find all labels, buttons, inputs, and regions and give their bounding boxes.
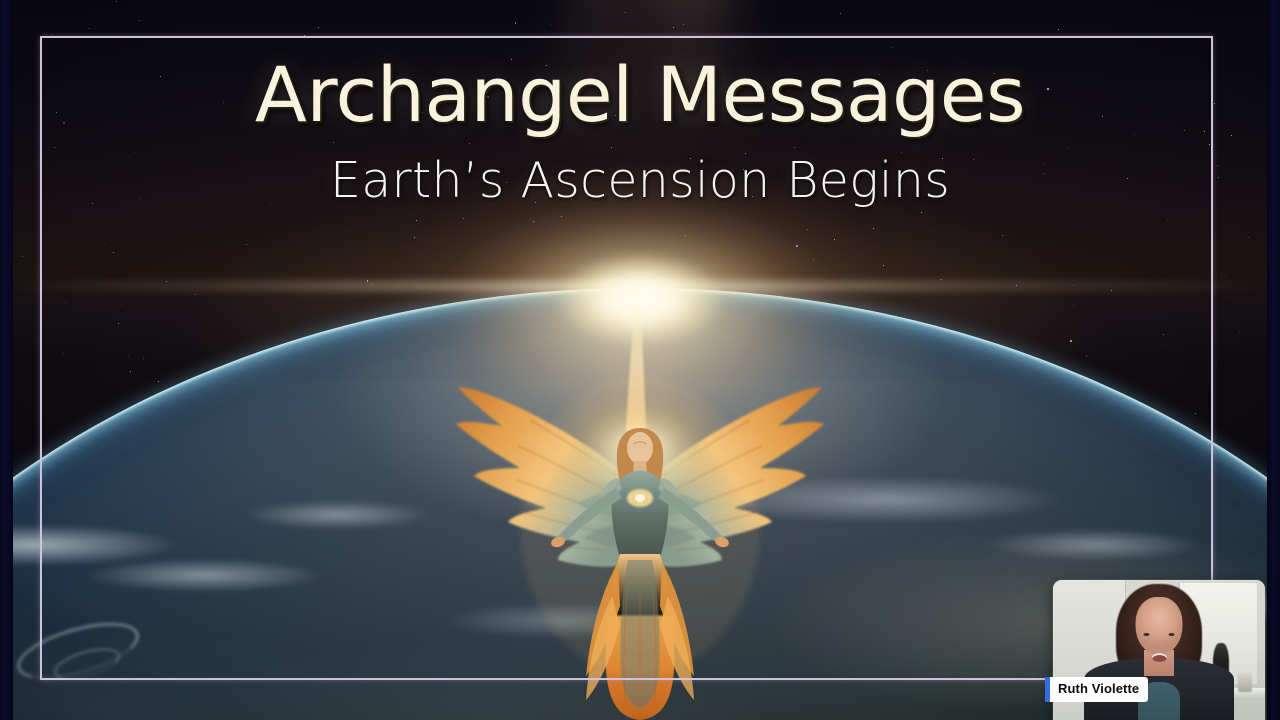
speaker-eye-right xyxy=(1168,633,1174,636)
speaker-face xyxy=(1136,597,1183,655)
speaker-eye-left xyxy=(1143,633,1149,636)
speaker-mouth xyxy=(1152,653,1167,662)
presentation-stage: Archangel Messages Earth’s Ascension Beg… xyxy=(0,0,1280,720)
shelf-object xyxy=(1238,673,1252,692)
speaker-name-tag: Ruth Violette xyxy=(1050,677,1148,702)
